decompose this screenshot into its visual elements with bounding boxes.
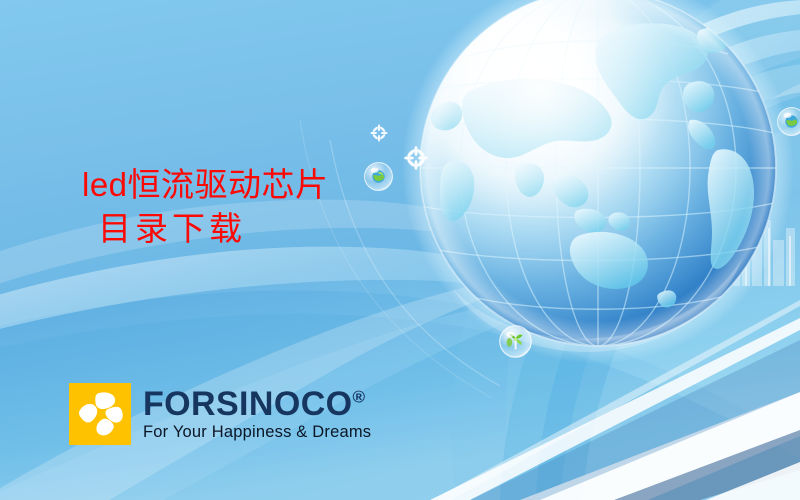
logo-wordmark: FORSINOCO® For Your Happiness & Dreams [143,383,371,442]
world-globe-graphic [402,0,794,364]
city-skyline-silhouette [694,220,795,286]
brand-name-text: FORSINOCO [143,385,353,423]
bubble-edge-icon [776,106,800,137]
headline-cjk-suffix: 恒流驱动芯片 [128,168,329,204]
brand-tagline: For Your Happiness & Dreams [143,423,371,442]
bubble-windmill-icon [498,324,533,359]
registered-trademark-icon: ® [353,388,366,407]
headline-text-block: led恒流驱动芯片 目录下载 [82,163,412,252]
brand-name: FORSINOCO® [143,387,371,421]
diagonal-swoosh-bands [430,300,800,500]
presentation-slide: led恒流驱动芯片 目录下载 FORSINOCO® For Your Ha [0,0,800,500]
brand-logo: FORSINOCO® For Your Happiness & Dreams [69,383,371,445]
headline-latin-prefix: led [82,166,128,203]
forsinoco-pinwheel-mark-icon [69,383,131,445]
sparkle-star-left [370,124,388,142]
headline-line-2: 目录下载 [98,208,412,252]
continents [431,23,754,307]
headline-line-1: led恒流驱动芯片 [82,163,412,208]
